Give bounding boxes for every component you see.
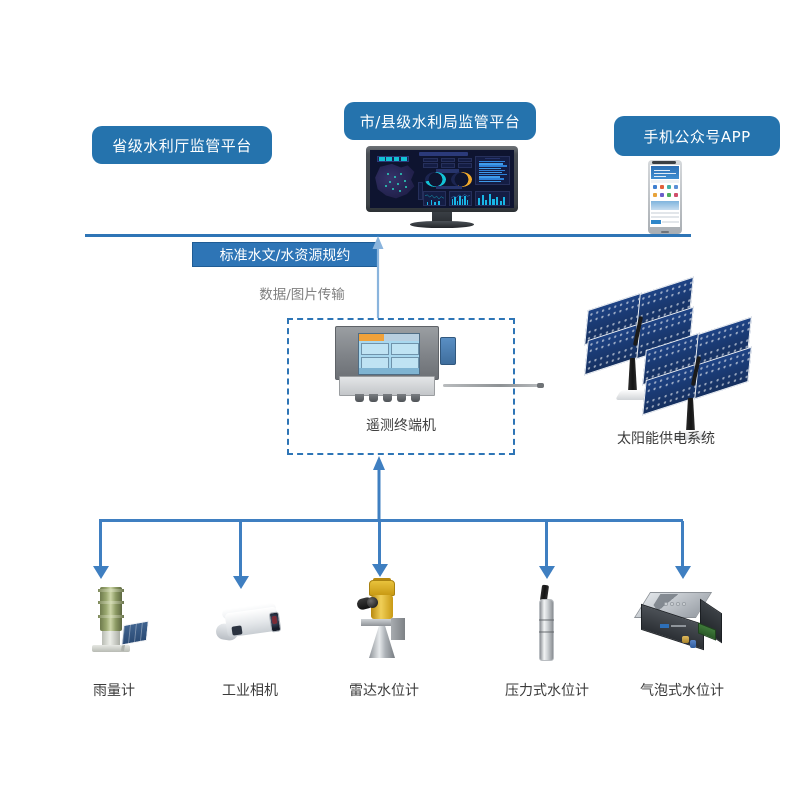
branch-line <box>545 521 548 569</box>
branch-arrowhead <box>372 564 388 577</box>
smartphone <box>648 160 682 234</box>
stat-box <box>458 163 472 168</box>
rain-gauge-icon <box>78 585 150 661</box>
sensor-bus-line <box>99 519 683 522</box>
stat-box <box>423 163 437 168</box>
diagram-canvas: 省级水利厅监管平台 市/县级水利局监管平台 手机公众号APP <box>0 0 800 800</box>
app-icon[interactable] <box>667 193 671 197</box>
pressure-sensor-body <box>539 599 554 661</box>
solar-pole <box>686 398 695 432</box>
sensor-label-industrial-camera: 工业相机 <box>184 680 316 700</box>
app-header-banner <box>651 166 679 179</box>
platform-provincial-water-bureau[interactable]: 省级水利厅监管平台 <box>92 126 272 164</box>
china-map-graphic <box>374 164 416 200</box>
protocol-transmission-label: 数据/图片传输 <box>232 283 372 303</box>
radar-mount-bracket <box>391 618 405 640</box>
rtu-cable-gland <box>397 394 406 402</box>
bubble-gauge-brass-fitting <box>682 636 689 643</box>
branch-arrowhead <box>675 566 691 579</box>
rtu-device-icon <box>329 326 451 402</box>
stat-box <box>423 158 437 163</box>
bar-chart-panel <box>475 156 510 185</box>
stat-box <box>441 163 455 168</box>
rtu-terminal-compartment <box>339 376 435 396</box>
bar-chart-panel-3 <box>475 191 510 206</box>
dashboard-legend-strip <box>418 182 423 199</box>
rtu-cable-gland <box>369 394 378 402</box>
radar-connector <box>367 597 378 608</box>
uplink-arrow-rtu-to-platform <box>372 236 384 318</box>
solar-pole <box>628 358 637 392</box>
branch-line <box>239 521 242 579</box>
app-icon[interactable] <box>660 193 664 197</box>
donut-chart-teal <box>425 172 447 187</box>
phone-app-screen <box>650 165 680 227</box>
antenna-tip-icon <box>537 383 544 388</box>
rain-gauge-neck <box>102 631 120 645</box>
dashboard-title-bar <box>419 152 468 156</box>
section-label <box>436 186 462 189</box>
monitor-dashboard-screen <box>370 150 514 208</box>
monitor-stand-base <box>410 221 474 228</box>
rain-gauge-solar-panel-icon <box>121 620 149 645</box>
uplink-arrow-sensors-to-rtu <box>372 456 386 522</box>
antenna-rod-icon <box>443 384 539 387</box>
branch-arrowhead <box>93 566 109 579</box>
stat-box <box>458 158 472 163</box>
phone-home-button[interactable] <box>661 231 669 233</box>
bubble-gauge-logo <box>660 624 686 629</box>
rtu-label: 遥测终端机 <box>287 415 515 435</box>
app-icon[interactable] <box>660 185 664 189</box>
kpi-chip <box>379 157 385 160</box>
rtu-screen-quadrant <box>361 343 389 355</box>
radar-housing-top <box>369 580 395 596</box>
phone-body <box>648 160 682 234</box>
bar-chart-panel-2 <box>449 191 472 206</box>
app-action-button[interactable] <box>651 220 661 224</box>
rtu-side-connector <box>440 337 456 365</box>
camera-rear-port <box>231 625 242 635</box>
stat-box <box>441 158 455 163</box>
sensor-label-radar-level: 雷达水位计 <box>318 680 450 700</box>
pressure-level-gauge-icon <box>530 585 564 665</box>
rain-gauge-cylinder <box>100 587 122 631</box>
kpi-chip <box>401 157 407 160</box>
branch-line <box>99 521 102 569</box>
app-icon[interactable] <box>653 193 657 197</box>
desktop-monitor <box>366 146 518 230</box>
radar-level-gauge-icon <box>347 578 421 662</box>
protocol-standard-box: 标准水文/水资源规约 <box>192 242 378 267</box>
app-icon[interactable] <box>674 193 678 197</box>
app-banner-card[interactable] <box>651 201 679 210</box>
rtu-enclosure <box>335 326 439 380</box>
kpi-chip <box>394 157 400 160</box>
line-chart-panel <box>423 191 446 206</box>
network-trunk-line <box>85 234 691 237</box>
rtu-cable-gland <box>411 394 420 402</box>
bubble-level-gauge-icon <box>638 590 726 656</box>
camera-ir-filter <box>271 616 277 625</box>
sensor-label-bubble-level: 气泡式水位计 <box>616 680 748 700</box>
branch-arrowhead <box>539 566 555 579</box>
branch-line <box>378 521 381 567</box>
rtu-screen-quadrant <box>391 343 419 355</box>
industrial-camera-icon <box>212 600 288 654</box>
branch-line <box>681 521 684 569</box>
rtu-screen-title-bar <box>359 334 419 341</box>
solar-power-system-icon <box>586 282 746 442</box>
donut-chart-gold <box>451 172 473 187</box>
monitor-bezel <box>366 146 518 212</box>
sensor-label-rain-gauge: 雨量计 <box>48 680 180 700</box>
dashboard-kpi-row <box>377 156 409 162</box>
bubble-gauge-indicator-leds <box>664 602 686 607</box>
rtu-cable-gland <box>355 394 364 402</box>
app-icon[interactable] <box>674 185 678 189</box>
bubble-gauge-blue-fitting <box>690 640 696 648</box>
rtu-screen-status-bar <box>359 368 419 374</box>
rtu-lcd-screen <box>358 333 420 375</box>
kpi-chip <box>386 157 392 160</box>
app-icon[interactable] <box>653 185 657 189</box>
phone-speaker-icon <box>652 161 676 164</box>
branch-arrowhead <box>233 576 249 589</box>
rtu-cable-gland <box>383 394 392 402</box>
app-icon[interactable] <box>667 185 671 189</box>
sensor-label-pressure-level: 压力式水位计 <box>481 680 613 700</box>
solar-power-system-label: 太阳能供电系统 <box>586 428 746 448</box>
platform-city-county-water-bureau[interactable]: 市/县级水利局监管平台 <box>344 102 536 140</box>
platform-mobile-app[interactable]: 手机公众号APP <box>614 116 780 156</box>
